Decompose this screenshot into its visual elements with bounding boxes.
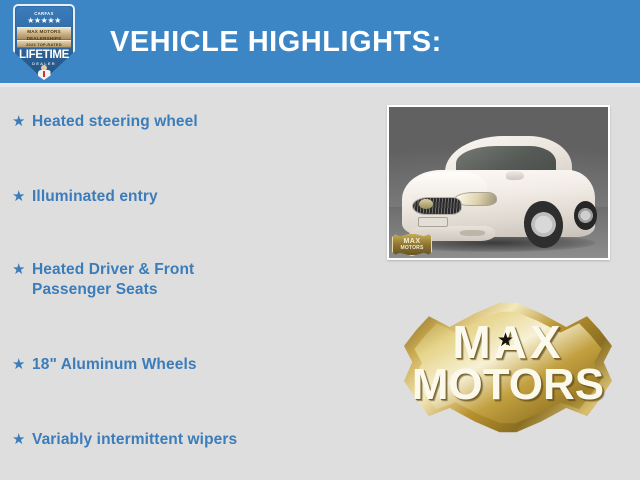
car-foglight xyxy=(460,230,485,236)
badge-band-lower: 2023 TOP-RATED xyxy=(17,40,71,48)
car-side-mirror xyxy=(506,171,523,180)
highlight-text: Heated Driver & Front Passenger Seats xyxy=(32,260,194,300)
star-bullet-icon: ★ xyxy=(12,112,32,132)
badge-stars-icon: ★★★★★ xyxy=(13,17,75,25)
badge-band-upper: MAX MOTORS DEALERSHIPS xyxy=(17,27,71,40)
list-item: ★ Heated steering wheel xyxy=(12,112,198,132)
photo-watermark-logo: MAX MOTORS xyxy=(392,233,432,256)
watermark-line1: MAX xyxy=(403,238,420,245)
car-rear-wheel xyxy=(574,201,597,230)
logo-text-motors: MOTORS xyxy=(404,363,612,407)
star-bullet-icon: ★ xyxy=(12,355,32,375)
list-item: ★ Variably intermittent wipers xyxy=(12,430,237,450)
list-item: ★ Heated Driver & Front Passenger Seats xyxy=(12,260,194,300)
car-license-plate xyxy=(418,217,449,227)
highlight-text: Illuminated entry xyxy=(32,187,158,207)
highlight-text: Variably intermittent wipers xyxy=(32,430,237,450)
badge-lifetime-label: LIFETIME xyxy=(13,49,75,61)
vehicle-highlights-slide: CARFAX ★★★★★ MAX MOTORS DEALERSHIPS 2023… xyxy=(0,0,640,480)
highlight-text: 18" Aluminum Wheels xyxy=(32,355,197,375)
badge-line1: MAX MOTORS xyxy=(17,28,71,35)
carfax-lifetime-dealer-badge: CARFAX ★★★★★ MAX MOTORS DEALERSHIPS 2023… xyxy=(13,4,75,80)
vehicle-photo: MAX MOTORS xyxy=(387,105,610,260)
badge-salesperson-icon xyxy=(37,65,51,80)
highlight-text: Heated steering wheel xyxy=(32,112,198,132)
star-bullet-icon: ★ xyxy=(12,260,32,280)
watermark-line2: MOTORS xyxy=(400,245,423,252)
max-motors-logo: MAX ★ MOTORS xyxy=(404,300,612,435)
star-bullet-icon: ★ xyxy=(12,430,32,450)
logo-star-icon: ★ xyxy=(497,331,514,350)
buick-emblem-icon xyxy=(419,199,432,209)
badge-line3: 2023 TOP-RATED xyxy=(17,41,71,49)
header-underline xyxy=(0,83,640,87)
vehicle-photo-canvas: MAX MOTORS xyxy=(389,107,608,258)
star-bullet-icon: ★ xyxy=(12,187,32,207)
page-title: VEHICLE HIGHLIGHTS: xyxy=(110,26,442,59)
list-item: ★ 18" Aluminum Wheels xyxy=(12,355,197,375)
list-item: ★ Illuminated entry xyxy=(12,187,158,207)
buick-encore-suv xyxy=(402,134,595,246)
